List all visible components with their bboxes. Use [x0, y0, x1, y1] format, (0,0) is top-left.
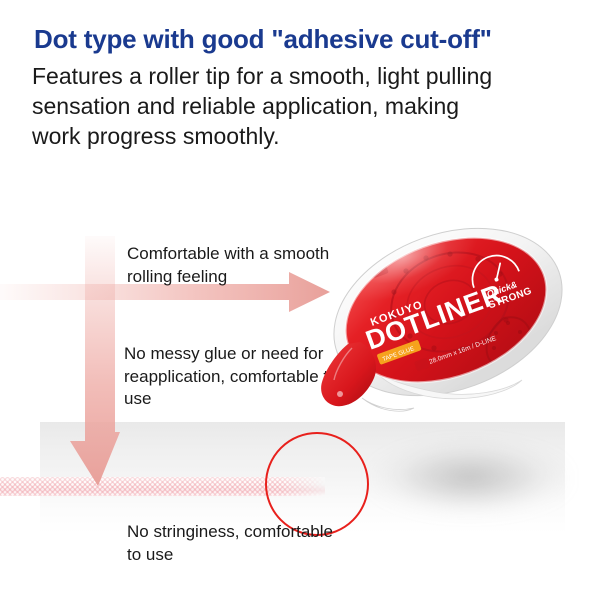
callout-no-messy-glue: No messy glue or need for reapplication,…: [124, 343, 339, 411]
arrow-down-icon: [62, 236, 120, 486]
product-image-dotliner: KOKUYO DOTLINER TAPE GLUE 28.0mm x 16m /…: [318, 222, 583, 427]
callout-no-stringiness: No stringiness, comfortable to use: [127, 521, 342, 566]
page-title: Dot type with good "adhesive cut-off": [34, 24, 579, 55]
page-description: Features a roller tip for a smooth, ligh…: [32, 62, 502, 152]
surface-shadow: [370, 424, 570, 532]
callout-rolling-feel: Comfortable with a smooth rolling feelin…: [127, 243, 337, 288]
product-infographic: Dot type with good "adhesive cut-off" Fe…: [0, 0, 600, 600]
